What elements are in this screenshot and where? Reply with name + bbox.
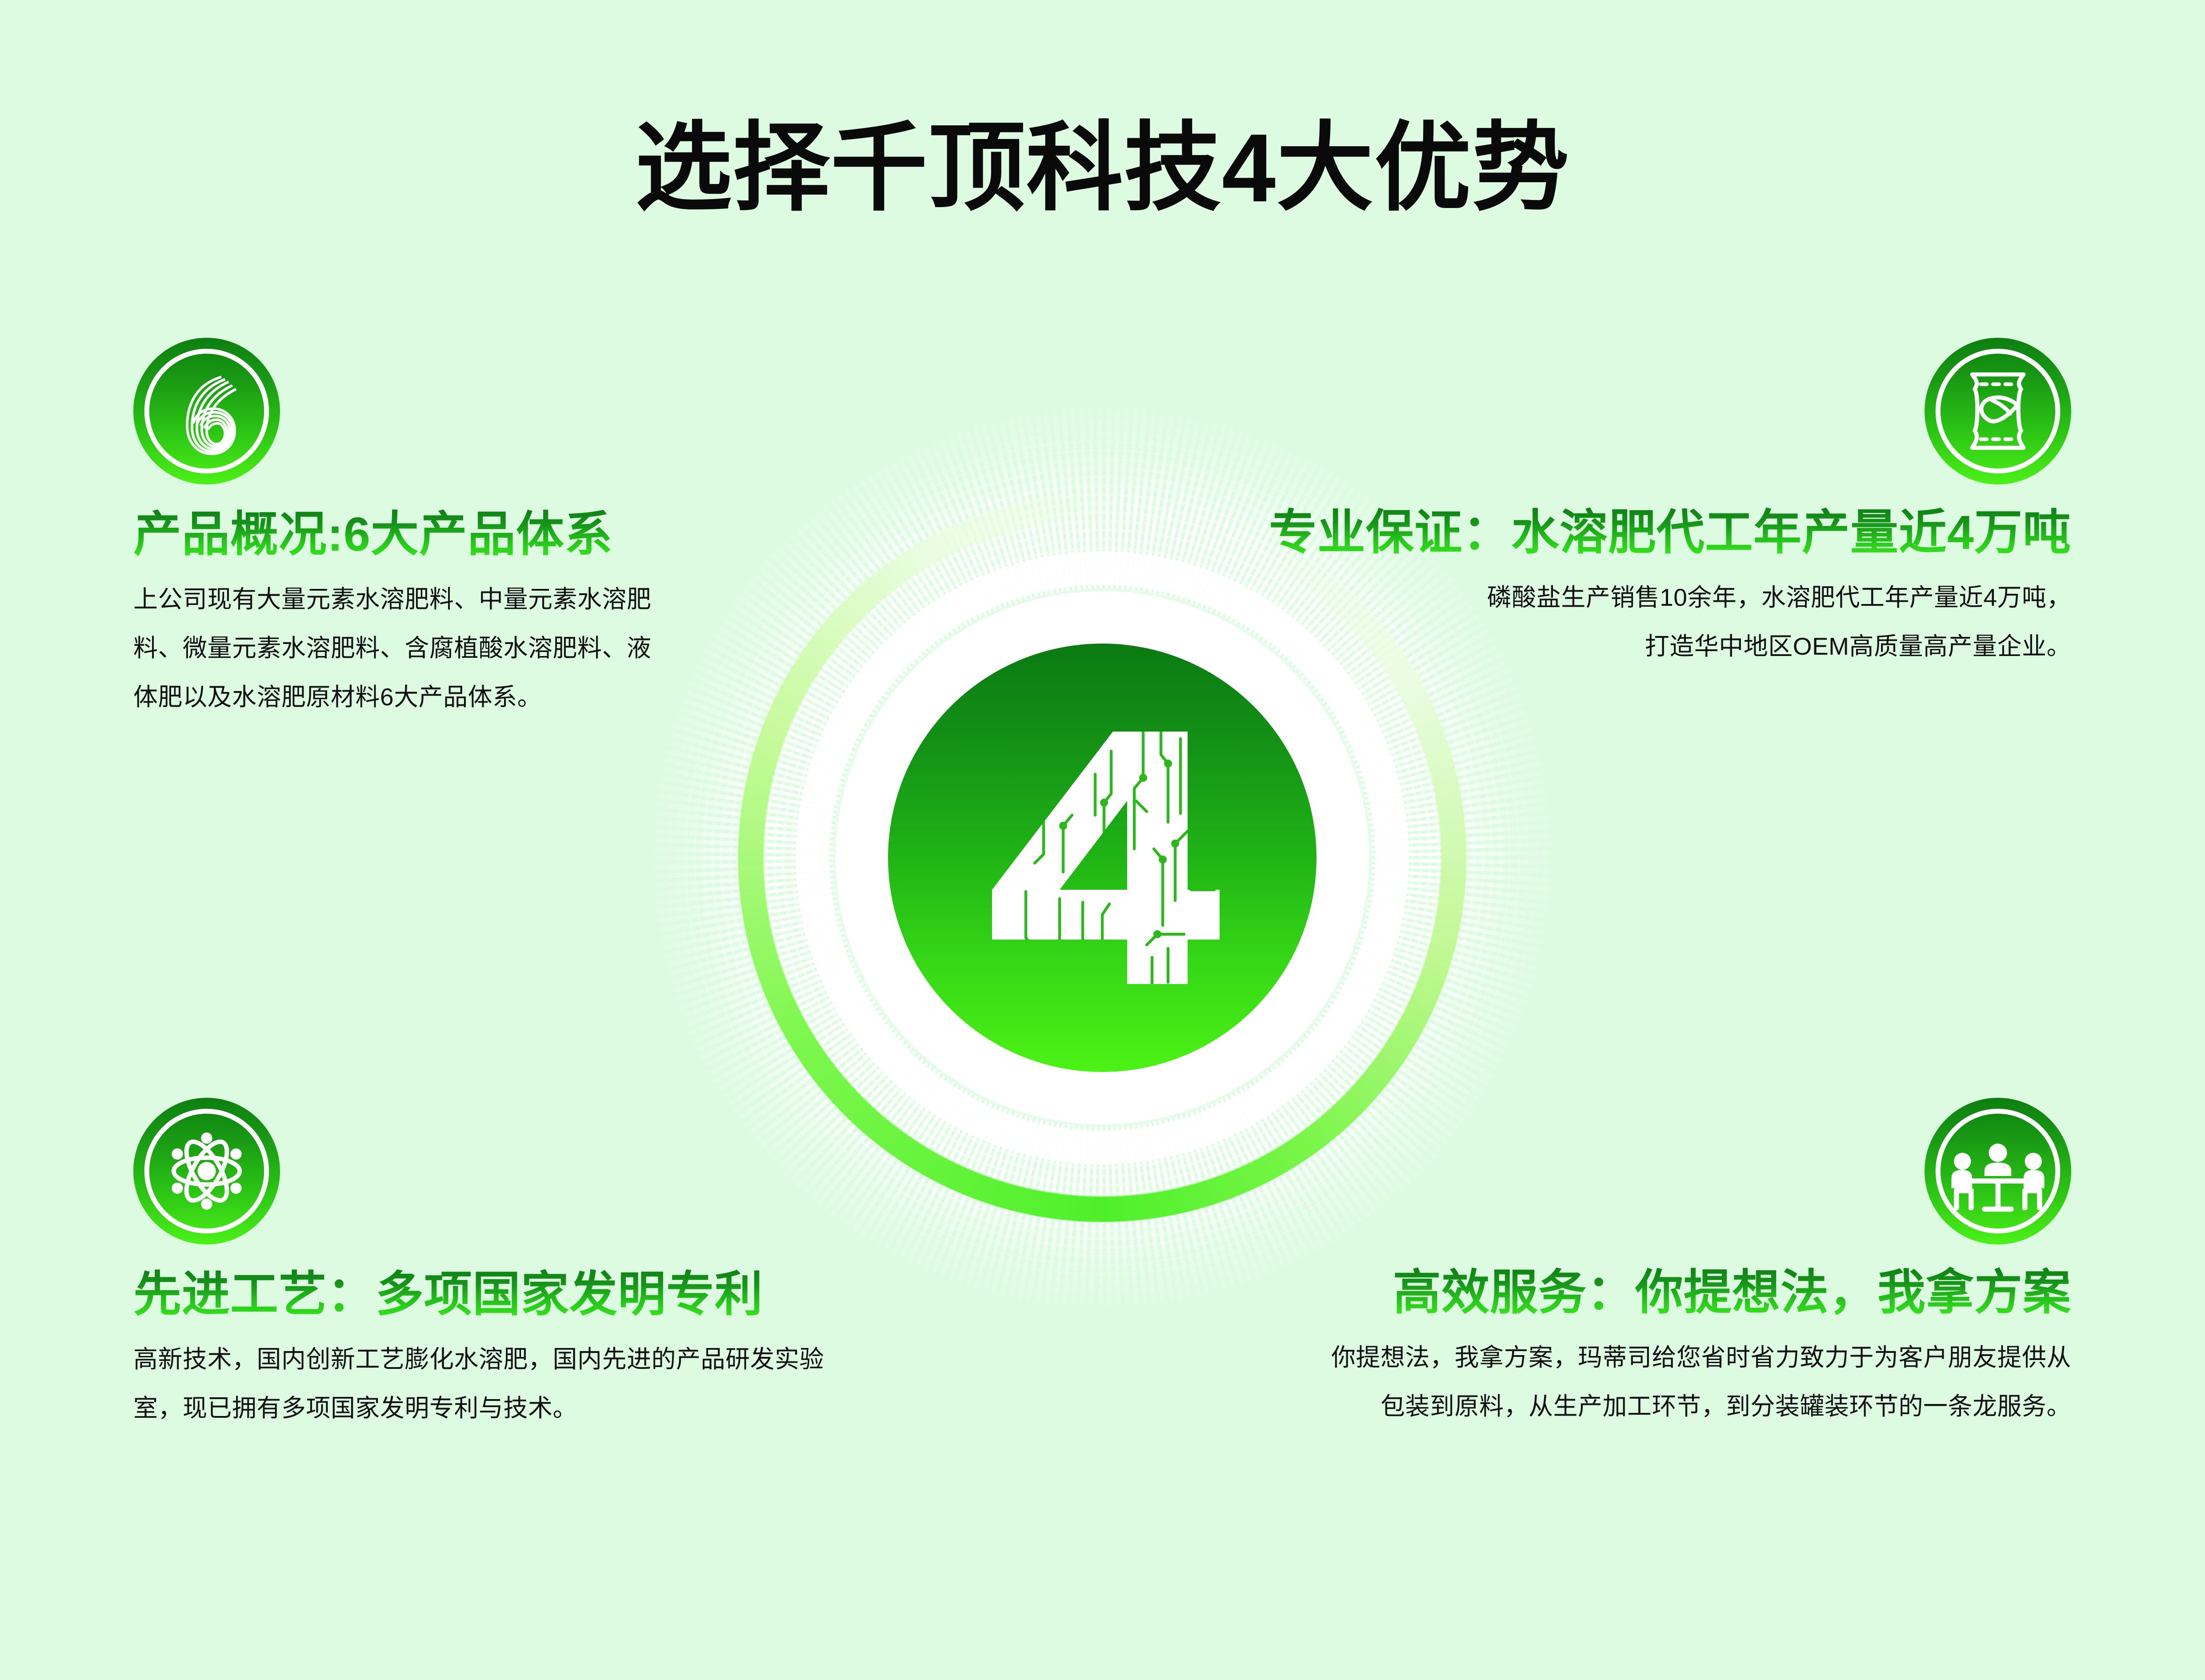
advantage-heading: 专业保证：水溶肥代工年产量近4万吨 (1200, 504, 2071, 560)
advantage-body: 高新技术，国内创新工艺膨化水溶肥，国内先进的产品研发实验室，现已拥有多项国家发明… (133, 1335, 836, 1432)
advantage-heading: 先进工艺：多项国家发明专利 (133, 1266, 889, 1322)
advantage-card-bottom-right: 高效服务：你提想法，我拿方案 你提想法，我拿方案，玛蒂司给您省时省力致力于为客户… (1311, 1098, 2071, 1431)
advantage-card-top-left: 产品概况:6大产品体系 上公司现有大量元素水溶肥料、中量元素水溶肥料、微量元素水… (133, 338, 707, 721)
six-rings-icon (133, 338, 280, 484)
atom-icon (133, 1098, 280, 1244)
advantage-body: 你提想法，我拿方案，玛蒂司给您省时省力致力于为客户朋友提供从包装到原料，从生产加… (1316, 1333, 2071, 1431)
advantage-card-top-right: 专业保证：水溶肥代工年产量近4万吨 磷酸盐生产销售10余年，水溶肥代工年产量近4… (1200, 338, 2071, 671)
advantage-body: 上公司现有大量元素水溶肥料、中量元素水溶肥料、微量元素水溶肥料、含腐植酸水溶肥料… (133, 575, 658, 721)
page-title: 选择千顶科技4大优势 (0, 89, 2205, 229)
advantage-card-bottom-left: 先进工艺：多项国家发明专利 高新技术，国内创新工艺膨化水溶肥，国内先进的产品研发… (133, 1098, 889, 1432)
circuit-four-icon (978, 716, 1227, 1000)
advantage-heading: 产品概况:6大产品体系 (133, 506, 707, 562)
meeting-people-icon (1925, 1098, 2071, 1244)
advantage-heading: 高效服务：你提想法，我拿方案 (1311, 1264, 2071, 1320)
advantage-body: 磷酸盐生产销售10余年，水溶肥代工年产量近4万吨，打造华中地区OEM高质量高产量… (1485, 573, 2071, 671)
center-green-disc (888, 644, 1317, 1072)
fertilizer-bag-icon (1925, 338, 2071, 484)
